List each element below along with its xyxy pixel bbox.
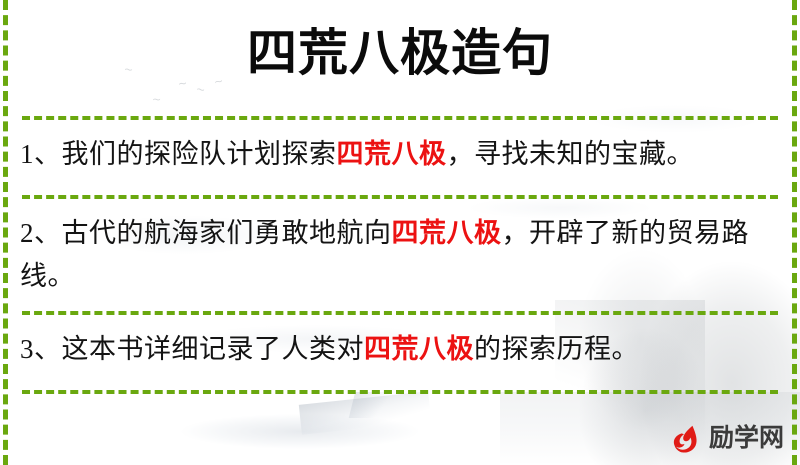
- worksheet-content: 四荒八极造句 1、我们的探险队计划探索四荒八极，寻找未知的宝藏。 2、古代的航海…: [0, 0, 800, 465]
- divider-after-sentence-1: [22, 195, 778, 199]
- site-logo-text: 励学网: [709, 426, 784, 451]
- sentence-text-after-1: ，寻找未知的宝藏。: [447, 139, 695, 169]
- example-sentence-3: 3、这本书详细记录了人类对四荒八极的探索历程。: [20, 328, 776, 371]
- sentence-text-after-3: 的探索历程。: [474, 334, 639, 364]
- page-title: 四荒八极造句: [0, 22, 800, 84]
- flame-swirl-icon: [668, 421, 702, 455]
- sentence-text-before-1: 我们的探险队计划探索: [62, 139, 337, 169]
- sentence-text-before-3: 这本书详细记录了人类对: [62, 334, 365, 364]
- sentence-number-2: 2、: [20, 218, 62, 248]
- keyword-highlight-3: 四荒八极: [364, 334, 474, 364]
- site-logo: 励学网: [668, 421, 784, 455]
- sentence-number-1: 1、: [20, 139, 62, 169]
- worksheet-page: ∼ ∼ ∼ ∼ ∼ 四荒八极造句 1、我们的探险队计划探索四荒八极，寻找未知的宝…: [0, 0, 800, 465]
- keyword-highlight-2: 四荒八极: [392, 218, 502, 248]
- sentence-text-before-2: 古代的航海家们勇敢地航向: [62, 218, 392, 248]
- example-sentence-2: 2、古代的航海家们勇敢地航向四荒八极，开辟了新的贸易路线。: [20, 212, 776, 298]
- divider-under-title: [22, 116, 778, 120]
- divider-after-sentence-3: [22, 390, 778, 394]
- sentence-number-3: 3、: [20, 334, 62, 364]
- divider-after-sentence-2: [22, 311, 778, 315]
- keyword-highlight-1: 四荒八极: [337, 139, 447, 169]
- example-sentence-1: 1、我们的探险队计划探索四荒八极，寻找未知的宝藏。: [20, 133, 776, 176]
